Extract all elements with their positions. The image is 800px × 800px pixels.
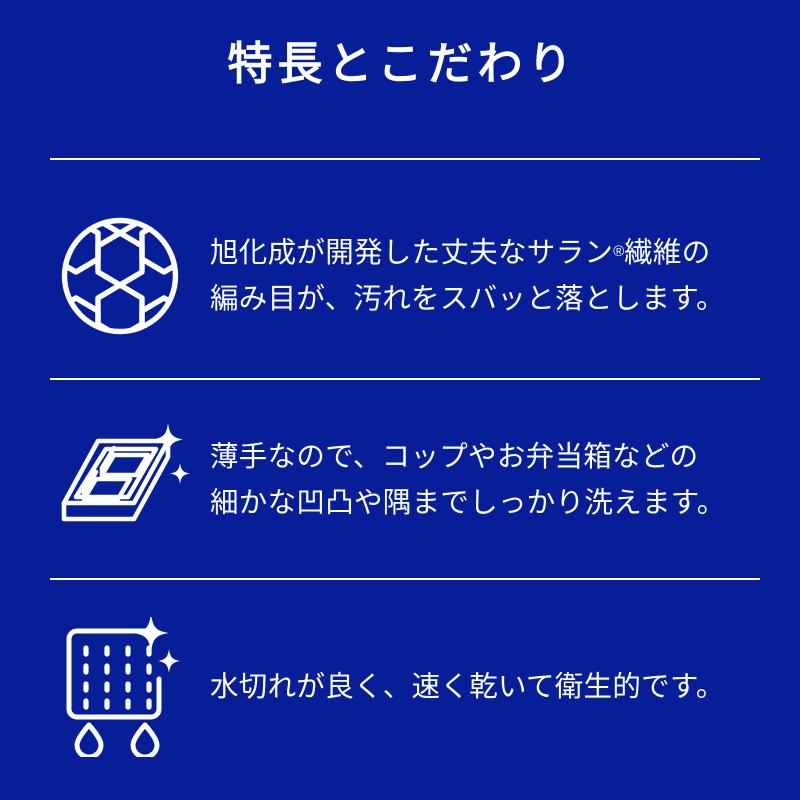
feature-1-line-1-post: 繊維の: [624, 237, 710, 269]
promo-panel: 特長とこだわり: [0, 0, 800, 800]
feature-1-line-2: 編み目が、汚れをスバッと落とします。: [210, 276, 760, 322]
feature-1-text: 旭化成が開発した丈夫なサラン®繊維の 編み目が、汚れをスバッと落とします。: [196, 230, 760, 322]
feature-3-text: 水切れが良く、速く乾いて衛生的です。: [196, 664, 760, 710]
feature-2-icon-box: [44, 416, 196, 544]
feature-row-3: 水切れが良く、速く乾いて衛生的です。: [44, 612, 760, 762]
honeycomb-mesh-ball-icon: [58, 214, 182, 338]
feature-1-line-1: 旭化成が開発した丈夫なサラン®繊維の: [210, 230, 760, 276]
bento-box-sparkle-icon: [50, 421, 190, 539]
feature-2-text: 薄手なので、コップやお弁当箱などの 細かな凹凸や隅までしっかり洗えます。: [196, 434, 760, 526]
page-title: 特長とこだわり: [222, 38, 577, 90]
divider-between-2-3: [50, 578, 760, 580]
feature-1-icon-box: [44, 206, 196, 346]
feature-1-line-1-pre: 旭化成が開発した丈夫なサラン: [210, 237, 613, 269]
divider-top: [50, 158, 760, 160]
feature-3-line-1: 水切れが良く、速く乾いて衛生的です。: [210, 664, 760, 710]
feature-3-icon-box: [44, 612, 196, 762]
divider-between-1-2: [50, 378, 760, 380]
feature-2-line-2: 細かな凹凸や隅までしっかり洗えます。: [210, 480, 760, 526]
registered-mark-icon: ®: [613, 244, 624, 260]
feature-2-line-1: 薄手なので、コップやお弁当箱などの: [210, 434, 760, 480]
feature-row-1: 旭化成が開発した丈夫なサラン®繊維の 編み目が、汚れをスバッと落とします。: [44, 206, 760, 346]
drying-cloth-droplets-icon: [55, 617, 185, 757]
page-title-container: 特長とこだわり: [0, 38, 800, 90]
feature-row-2: 薄手なので、コップやお弁当箱などの 細かな凹凸や隅までしっかり洗えます。: [44, 416, 760, 544]
